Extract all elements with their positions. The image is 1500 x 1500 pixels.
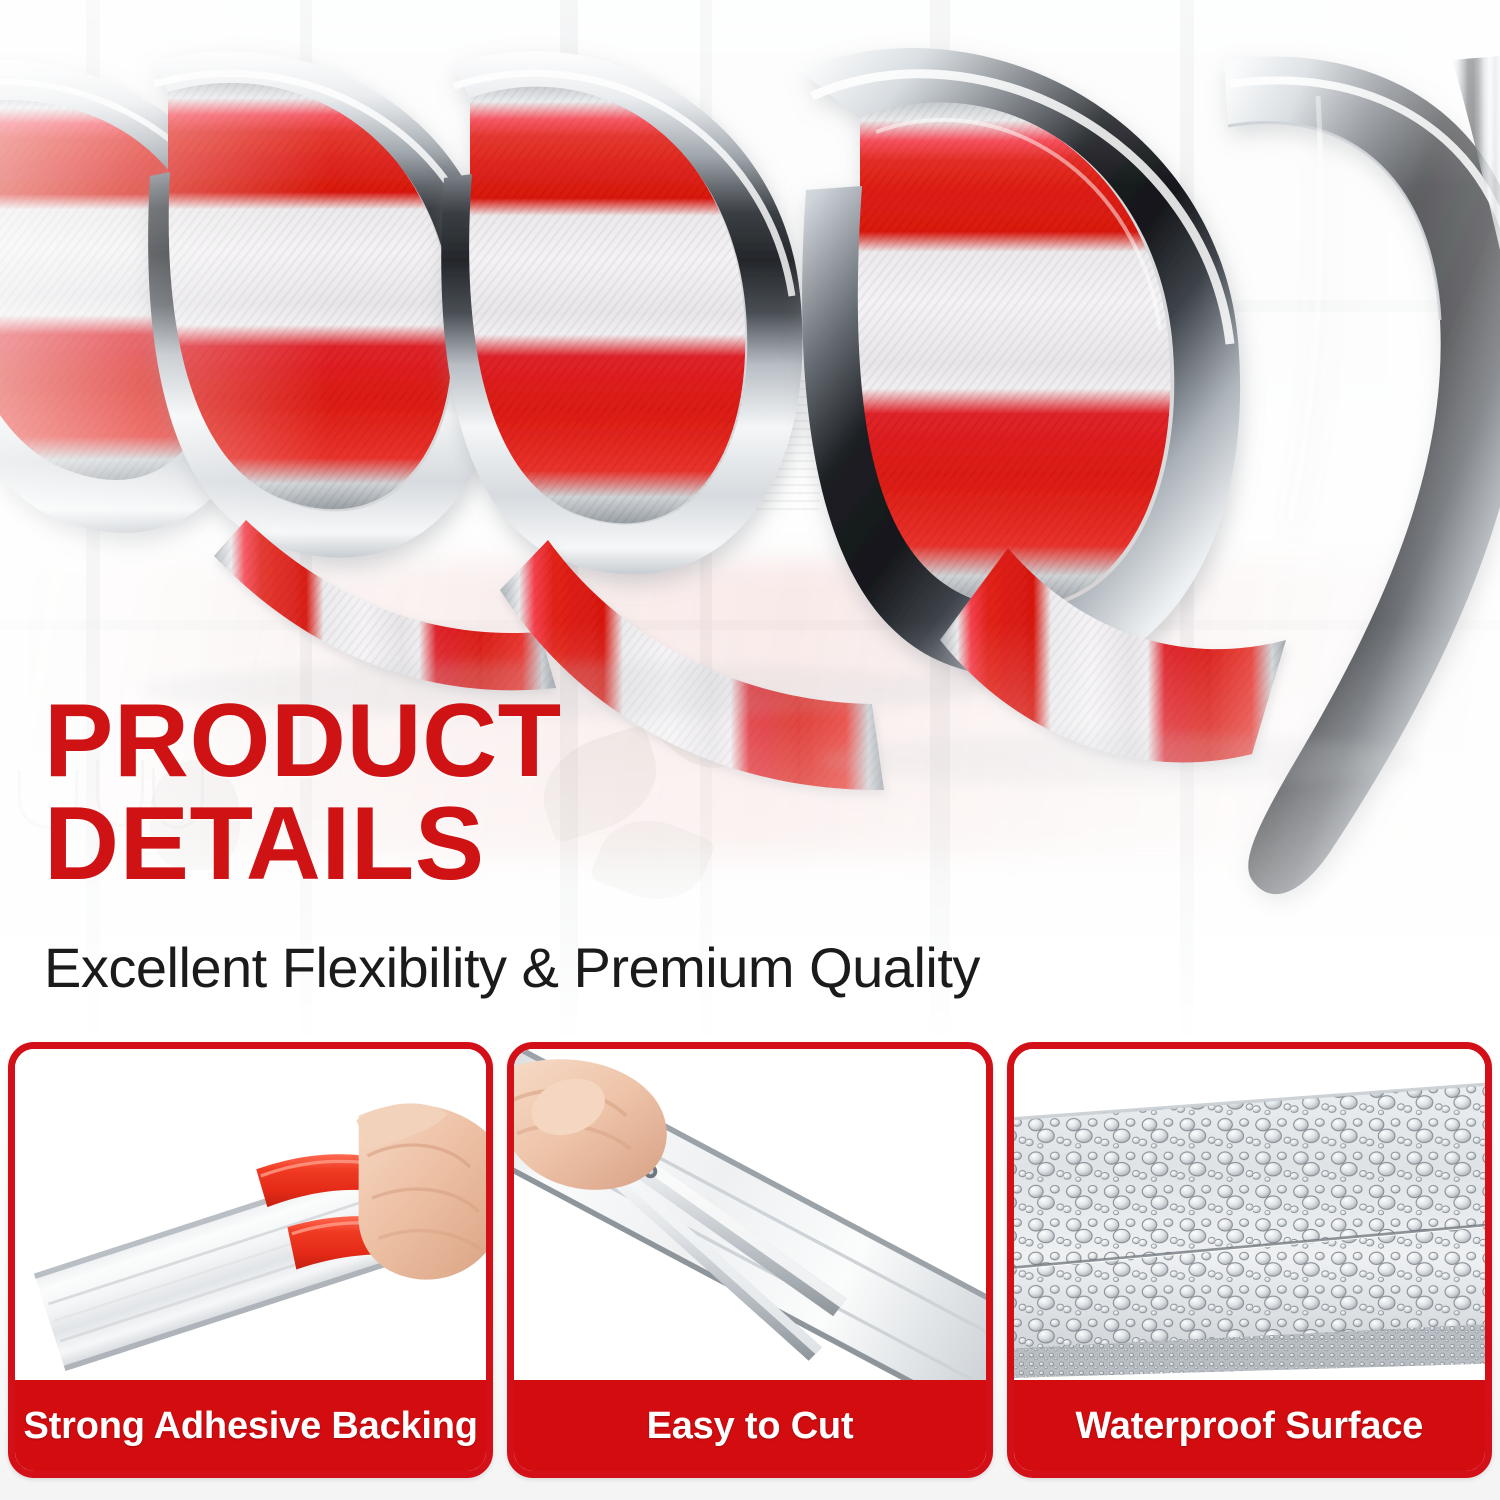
feature-panel-row: Strong Adhesive Backing [0,1035,1500,1500]
headline-line-2: DETAILS [44,793,1244,896]
hero-section: PRODUCT DETAILS Excellent Flexibility & … [0,0,1500,1035]
feature-card-cut: Easy to Cut [507,1042,992,1478]
feature-photo-adhesive [15,1049,486,1383]
feature-card-waterproof: Waterproof Surface [1007,1042,1492,1478]
hand-illustration [356,1103,486,1279]
page-subtitle: Excellent Flexibility & Premium Quality [44,940,980,996]
page-title: PRODUCT DETAILS [44,690,1244,896]
headline-line-1: PRODUCT [44,690,1244,793]
feature-caption-waterproof: Waterproof Surface [1013,1380,1486,1472]
feature-card-adhesive: Strong Adhesive Backing [8,1042,493,1478]
feature-photo-waterproof [1014,1049,1485,1383]
water-droplets-illustration [1014,1049,1485,1383]
product-detail-image: PRODUCT DETAILS Excellent Flexibility & … [0,0,1500,1500]
feature-caption-cut: Easy to Cut [513,1380,986,1472]
peeling-adhesive-illustration [15,1049,486,1383]
feature-caption-adhesive: Strong Adhesive Backing [14,1380,487,1472]
feature-photo-cut [514,1049,985,1383]
coil-loop-3 [441,51,802,574]
scissors-cutting-illustration [514,1049,985,1383]
